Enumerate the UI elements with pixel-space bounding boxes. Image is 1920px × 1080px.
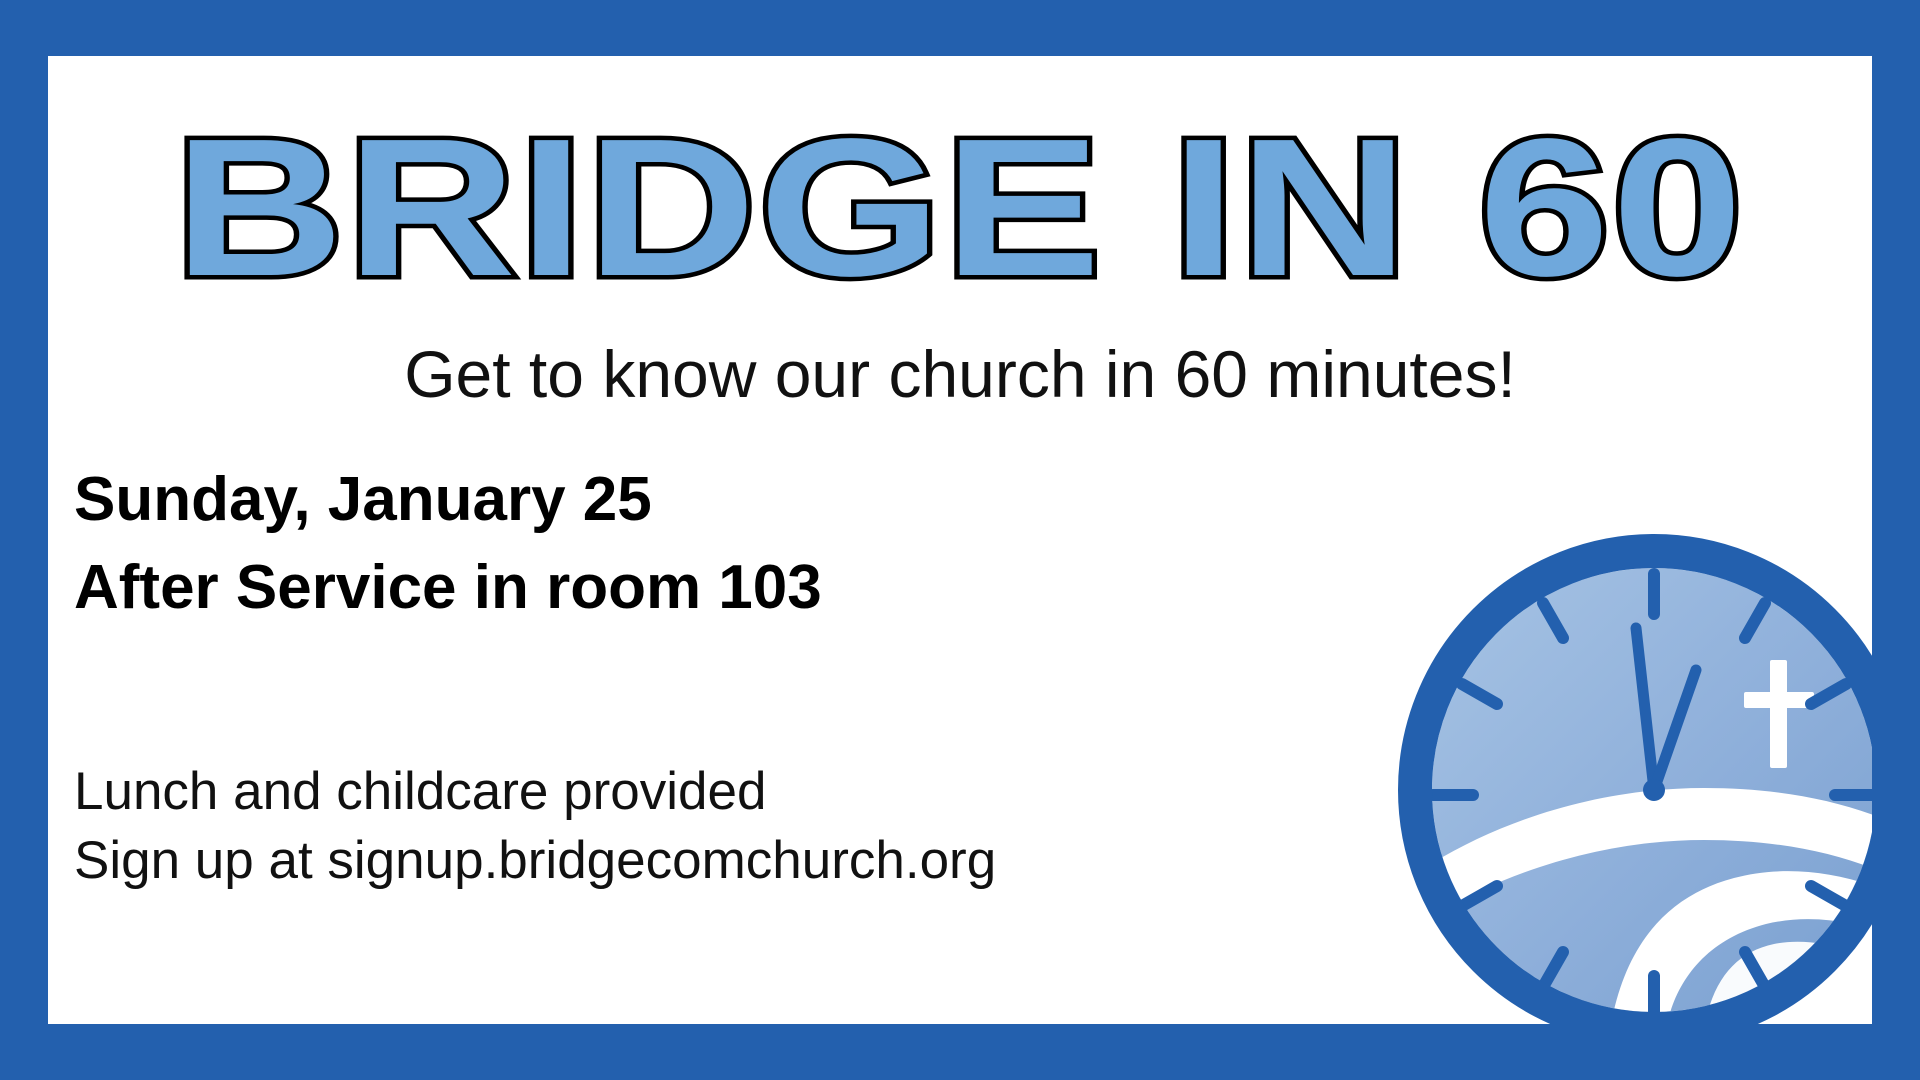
subtitle-block: Get to know our church in 60 minutes! — [48, 338, 1872, 411]
event-date: Sunday, January 25 — [74, 456, 1174, 544]
title-block: BRIDGE IN 60 — [48, 114, 1872, 302]
spacer — [74, 632, 1174, 748]
flyer-card: BRIDGE IN 60 Get to know our church in 6… — [48, 56, 1872, 1024]
flyer-canvas: BRIDGE IN 60 Get to know our church in 6… — [0, 0, 1920, 1080]
childcare-note: Lunch and childcare provided — [74, 758, 1174, 827]
event-details-block: Sunday, January 25 After Service in room… — [74, 456, 1174, 896]
subtitle-text: Get to know our church in 60 minutes! — [404, 338, 1516, 411]
clock-center-pin — [1643, 779, 1665, 801]
clock-svg — [1374, 510, 1872, 1024]
signup-note: Sign up at signup.bridgecomchurch.org — [74, 827, 1174, 896]
clock-illustration — [1374, 510, 1872, 1024]
event-location: After Service in room 103 — [74, 544, 1174, 632]
extra-details: Lunch and childcare provided Sign up at … — [74, 758, 1174, 896]
page-title: BRIDGE IN 60 — [174, 114, 1745, 302]
